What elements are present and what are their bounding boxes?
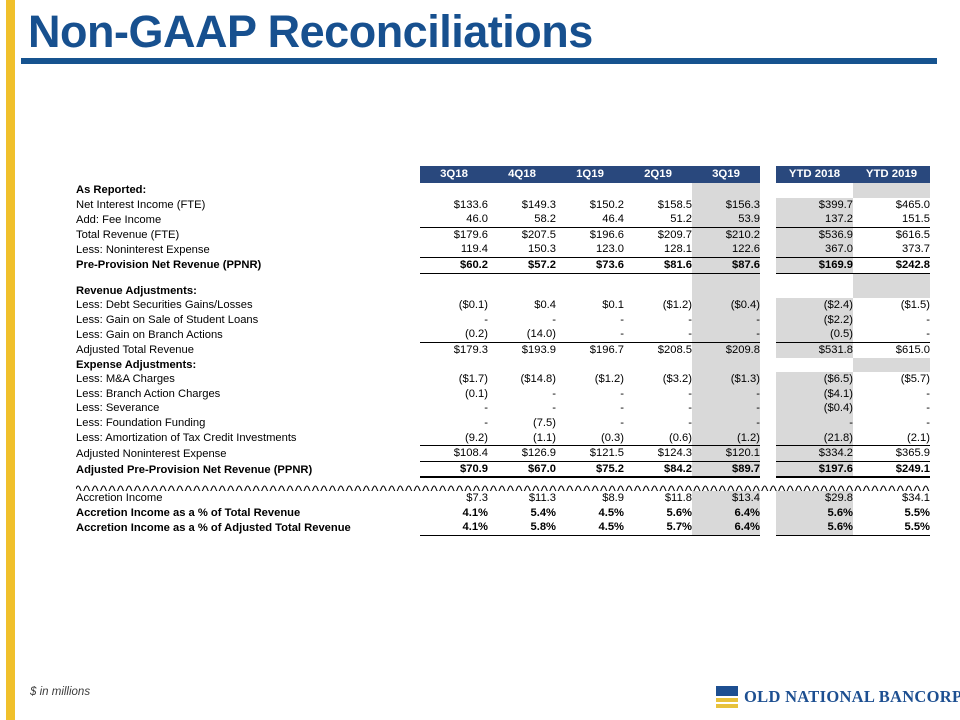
- table-cell: 373.7: [853, 242, 930, 257]
- row-label: Less: Noninterest Expense: [76, 242, 420, 257]
- section-title-filler: [624, 358, 692, 373]
- table-cell: $365.9: [853, 446, 930, 462]
- table-cell: 119.4: [420, 242, 488, 257]
- column-gap-cell: [760, 520, 776, 535]
- table-cell: (1.1): [488, 431, 556, 446]
- row-label: Less: M&A Charges: [76, 372, 420, 387]
- table-cell: ($0.4): [692, 298, 760, 313]
- table-cell: (0.3): [556, 431, 624, 446]
- column-gap-cell: [760, 387, 776, 402]
- table-cell: -: [624, 313, 692, 328]
- section-title-filler: [556, 284, 624, 299]
- table-cell: $70.9: [420, 461, 488, 477]
- company-logo-block: OLD NATIONAL BANCORP’ 52: [716, 684, 960, 710]
- table-cell: $126.9: [488, 446, 556, 462]
- table-cell: $169.9: [776, 257, 853, 273]
- section-title-filler: [853, 183, 930, 198]
- table-cell: $210.2: [692, 227, 760, 242]
- table-row: Less: Foundation Funding-(7.5)-----: [76, 416, 930, 431]
- table-cell: -: [556, 387, 624, 402]
- table-cell: (0.5): [776, 327, 853, 342]
- column-gap-cell: [760, 358, 776, 373]
- units-footnote: $ in millions: [30, 686, 90, 698]
- table-cell: -: [420, 401, 488, 416]
- header-label-blank: [76, 166, 420, 183]
- table-cell: -: [853, 401, 930, 416]
- section-title: Revenue Adjustments:: [76, 284, 420, 299]
- section-title-filler: [776, 284, 853, 299]
- column-gap-cell: [760, 242, 776, 257]
- section-title-filler: [776, 358, 853, 373]
- column-gap-cell: [760, 212, 776, 227]
- table-cell: 5.6%: [624, 506, 692, 521]
- row-label: Accretion Income as a % of Adjusted Tota…: [76, 520, 420, 535]
- table-cell: 51.2: [624, 212, 692, 227]
- table-cell: $465.0: [853, 198, 930, 213]
- row-label: Adjusted Pre-Provision Net Revenue (PPNR…: [76, 461, 420, 477]
- row-label: Net Interest Income (FTE): [76, 198, 420, 213]
- table-cell: ($14.8): [488, 372, 556, 387]
- table-cell: -: [624, 416, 692, 431]
- table-cell: $197.6: [776, 461, 853, 477]
- table-cell: $81.6: [624, 257, 692, 273]
- table-cell: $34.1: [853, 491, 930, 506]
- table-cell: -: [420, 416, 488, 431]
- section-title-row: Revenue Adjustments:: [76, 284, 930, 299]
- table-cell: $150.2: [556, 198, 624, 213]
- table-cell: -: [692, 401, 760, 416]
- title-underline-rule: [21, 58, 937, 64]
- column-gap-cell: [760, 416, 776, 431]
- column-gap-cell: [760, 273, 776, 284]
- section-title-filler: [420, 284, 488, 299]
- section-title-filler: [624, 183, 692, 198]
- table-cell: -: [488, 387, 556, 402]
- spacer: [76, 273, 420, 284]
- table-cell: -: [556, 401, 624, 416]
- table-cell: -: [853, 313, 930, 328]
- table-cell: (1.2): [692, 431, 760, 446]
- table-cell: -: [776, 416, 853, 431]
- table-cell: ($4.1): [776, 387, 853, 402]
- table-cell: (21.8): [776, 431, 853, 446]
- section-title-filler: [420, 358, 488, 373]
- table-cell: ($1.2): [556, 372, 624, 387]
- table-cell: 150.3: [488, 242, 556, 257]
- column-gap-cell: [760, 183, 776, 198]
- reconciliation-table-container: 3Q18 4Q18 1Q19 2Q19 3Q19 YTD 2018 YTD 20…: [76, 166, 882, 536]
- column-header-ytd-2018: YTD 2018: [776, 166, 853, 183]
- spacer: [420, 273, 488, 284]
- row-label: Adjusted Total Revenue: [76, 342, 420, 357]
- table-cell: 5.6%: [776, 520, 853, 535]
- table-cell: 4.5%: [556, 506, 624, 521]
- table-cell: $121.5: [556, 446, 624, 462]
- table-row: Less: Gain on Sale of Student Loans-----…: [76, 313, 930, 328]
- table-cell: ($0.4): [776, 401, 853, 416]
- column-gap-cell: [760, 506, 776, 521]
- table-cell: $193.9: [488, 342, 556, 357]
- section-title-filler: [776, 183, 853, 198]
- table-row: Less: Noninterest Expense119.4150.3123.0…: [76, 242, 930, 257]
- table-cell: 137.2: [776, 212, 853, 227]
- table-cell: $242.8: [853, 257, 930, 273]
- table-cell: (9.2): [420, 431, 488, 446]
- table-cell: $334.2: [776, 446, 853, 462]
- table-cell: -: [488, 313, 556, 328]
- column-gap-cell: [760, 257, 776, 273]
- wavy-divider-row: [76, 477, 930, 491]
- section-title-filler: [692, 183, 760, 198]
- table-cell: $7.3: [420, 491, 488, 506]
- row-label: Accretion Income: [76, 491, 420, 506]
- left-gold-accent-bar: [6, 0, 15, 720]
- table-row: Net Interest Income (FTE)$133.6$149.3$15…: [76, 198, 930, 213]
- section-title-filler: [624, 284, 692, 299]
- table-cell: 58.2: [488, 212, 556, 227]
- table-cell: -: [624, 387, 692, 402]
- column-header-3q18: 3Q18: [420, 166, 488, 183]
- table-cell: (0.2): [420, 327, 488, 342]
- table-cell: 4.1%: [420, 520, 488, 535]
- table-cell: 5.4%: [488, 506, 556, 521]
- row-label: Less: Gain on Branch Actions: [76, 327, 420, 342]
- table-cell: ($2.4): [776, 298, 853, 313]
- table-cell: (14.0): [488, 327, 556, 342]
- table-cell: -: [420, 313, 488, 328]
- table-cell: $11.8: [624, 491, 692, 506]
- table-cell: $158.5: [624, 198, 692, 213]
- section-title-filler: [853, 284, 930, 299]
- section-title-row: Expense Adjustments:: [76, 358, 930, 373]
- table-cell: -: [556, 416, 624, 431]
- table-cell: 151.5: [853, 212, 930, 227]
- column-gap-cell: [760, 327, 776, 342]
- section-title-filler: [488, 183, 556, 198]
- table-row: Adjusted Noninterest Expense$108.4$126.9…: [76, 446, 930, 462]
- table-cell: $0.1: [556, 298, 624, 313]
- non-gaap-reconciliation-table: 3Q18 4Q18 1Q19 2Q19 3Q19 YTD 2018 YTD 20…: [76, 166, 930, 536]
- column-gap-cell: [760, 491, 776, 506]
- table-row: Less: Severance-----($0.4)-: [76, 401, 930, 416]
- section-title-filler: [556, 358, 624, 373]
- table-cell: $11.3: [488, 491, 556, 506]
- row-label: Adjusted Noninterest Expense: [76, 446, 420, 462]
- spacer: [488, 273, 556, 284]
- table-cell: $208.5: [624, 342, 692, 357]
- table-cell: -: [853, 327, 930, 342]
- section-title: As Reported:: [76, 183, 420, 198]
- table-cell: -: [692, 313, 760, 328]
- table-cell: -: [624, 327, 692, 342]
- table-cell: $29.8: [776, 491, 853, 506]
- spacer: [853, 273, 930, 284]
- table-cell: 367.0: [776, 242, 853, 257]
- table-cell: 46.4: [556, 212, 624, 227]
- table-cell: -: [853, 387, 930, 402]
- table-cell: $73.6: [556, 257, 624, 273]
- table-cell: $84.2: [624, 461, 692, 477]
- table-cell: 5.6%: [776, 506, 853, 521]
- table-row: Adjusted Total Revenue$179.3$193.9$196.7…: [76, 342, 930, 357]
- column-gap-cell: [760, 446, 776, 462]
- table-cell: (0.1): [420, 387, 488, 402]
- table-row: Add: Fee Income46.058.246.451.253.9137.2…: [76, 212, 930, 227]
- table-row: Accretion Income$7.3$11.3$8.9$11.8$13.4$…: [76, 491, 930, 506]
- table-cell: 4.1%: [420, 506, 488, 521]
- table-cell: ($3.2): [624, 372, 692, 387]
- table-cell: $249.1: [853, 461, 930, 477]
- section-title-filler: [556, 183, 624, 198]
- table-cell: $399.7: [776, 198, 853, 213]
- wavy-divider: [76, 477, 930, 491]
- table-row: Less: Gain on Branch Actions(0.2)(14.0)-…: [76, 327, 930, 342]
- page-title: Non-GAAP Reconciliations: [28, 6, 593, 58]
- table-cell: $531.8: [776, 342, 853, 357]
- section-title: Expense Adjustments:: [76, 358, 420, 373]
- column-gap-cell: [760, 461, 776, 477]
- table-cell: $209.7: [624, 227, 692, 242]
- column-gap-cell: [760, 284, 776, 299]
- section-title-filler: [488, 284, 556, 299]
- table-row: Less: M&A Charges($1.7)($14.8)($1.2)($3.…: [76, 372, 930, 387]
- old-national-logo-icon: [716, 686, 738, 708]
- table-cell: -: [556, 313, 624, 328]
- table-cell: 46.0: [420, 212, 488, 227]
- table-cell: -: [692, 327, 760, 342]
- table-cell: ($2.2): [776, 313, 853, 328]
- table-cell: ($5.7): [853, 372, 930, 387]
- table-cell: ($1.3): [692, 372, 760, 387]
- row-label: Pre-Provision Net Revenue (PPNR): [76, 257, 420, 273]
- section-title-filler: [692, 358, 760, 373]
- column-header-ytd-2019: YTD 2019: [853, 166, 930, 183]
- table-cell: -: [556, 327, 624, 342]
- table-cell: 5.8%: [488, 520, 556, 535]
- column-gap-cell: [760, 313, 776, 328]
- row-label: Less: Branch Action Charges: [76, 387, 420, 402]
- table-cell: $209.8: [692, 342, 760, 357]
- table-row: Less: Branch Action Charges(0.1)----($4.…: [76, 387, 930, 402]
- row-label: Less: Amortization of Tax Credit Investm…: [76, 431, 420, 446]
- table-cell: $179.6: [420, 227, 488, 242]
- column-gap-cell: [760, 372, 776, 387]
- table-cell: -: [624, 401, 692, 416]
- table-cell: 4.5%: [556, 520, 624, 535]
- table-cell: 122.6: [692, 242, 760, 257]
- table-cell: 123.0: [556, 242, 624, 257]
- table-cell: -: [692, 416, 760, 431]
- table-cell: (2.1): [853, 431, 930, 446]
- section-title-filler: [488, 358, 556, 373]
- table-cell: $0.4: [488, 298, 556, 313]
- column-gap-cell: [760, 298, 776, 313]
- table-cell: -: [853, 416, 930, 431]
- spacer-row: [76, 273, 930, 284]
- table-cell: $87.6: [692, 257, 760, 273]
- column-header-1q19: 1Q19: [556, 166, 624, 183]
- table-cell: $89.7: [692, 461, 760, 477]
- row-label: Less: Severance: [76, 401, 420, 416]
- table-cell: $196.7: [556, 342, 624, 357]
- header-gap: [760, 166, 776, 183]
- table-cell: $75.2: [556, 461, 624, 477]
- table-row: Accretion Income as a % of Total Revenue…: [76, 506, 930, 521]
- table-cell: $536.9: [776, 227, 853, 242]
- table-cell: 5.5%: [853, 506, 930, 521]
- section-title-filler: [692, 284, 760, 299]
- table-cell: $8.9: [556, 491, 624, 506]
- section-title-filler: [420, 183, 488, 198]
- row-label: Total Revenue (FTE): [76, 227, 420, 242]
- table-cell: 6.4%: [692, 506, 760, 521]
- section-title-filler: [853, 358, 930, 373]
- table-row: Accretion Income as a % of Adjusted Tota…: [76, 520, 930, 535]
- table-cell: $60.2: [420, 257, 488, 273]
- table-cell: $57.2: [488, 257, 556, 273]
- section-title-row: As Reported:: [76, 183, 930, 198]
- column-header-2q19: 2Q19: [624, 166, 692, 183]
- table-cell: ($1.2): [624, 298, 692, 313]
- table-cell: ($1.7): [420, 372, 488, 387]
- table-cell: ($0.1): [420, 298, 488, 313]
- table-cell: $179.3: [420, 342, 488, 357]
- column-header-4q18: 4Q18: [488, 166, 556, 183]
- table-cell: $13.4: [692, 491, 760, 506]
- table-row: Less: Debt Securities Gains/Losses($0.1)…: [76, 298, 930, 313]
- table-cell: -: [692, 387, 760, 402]
- table-cell: -: [488, 401, 556, 416]
- column-gap-cell: [760, 227, 776, 242]
- column-gap-cell: [760, 198, 776, 213]
- table-cell: (0.6): [624, 431, 692, 446]
- table-cell: $149.3: [488, 198, 556, 213]
- table-cell: ($6.5): [776, 372, 853, 387]
- row-label: Add: Fee Income: [76, 212, 420, 227]
- table-cell: $207.5: [488, 227, 556, 242]
- column-gap-cell: [760, 431, 776, 446]
- column-gap-cell: [760, 342, 776, 357]
- table-cell: 5.7%: [624, 520, 692, 535]
- table-cell: $67.0: [488, 461, 556, 477]
- column-header-3q19: 3Q19: [692, 166, 760, 183]
- table-cell: 128.1: [624, 242, 692, 257]
- table-cell: 5.5%: [853, 520, 930, 535]
- spacer: [776, 273, 853, 284]
- spacer: [692, 273, 760, 284]
- table-cell: $124.3: [624, 446, 692, 462]
- table-row: Less: Amortization of Tax Credit Investm…: [76, 431, 930, 446]
- row-label: Less: Gain on Sale of Student Loans: [76, 313, 420, 328]
- table-row: Pre-Provision Net Revenue (PPNR)$60.2$57…: [76, 257, 930, 273]
- row-label: Less: Foundation Funding: [76, 416, 420, 431]
- table-cell: $196.6: [556, 227, 624, 242]
- table-cell: (7.5): [488, 416, 556, 431]
- table-cell: $108.4: [420, 446, 488, 462]
- table-cell: $120.1: [692, 446, 760, 462]
- table-cell: 6.4%: [692, 520, 760, 535]
- table-cell: $133.6: [420, 198, 488, 213]
- logo-wordmark: OLD NATIONAL BANCORP’: [744, 687, 960, 707]
- table-row: Adjusted Pre-Provision Net Revenue (PPNR…: [76, 461, 930, 477]
- table-header-row: 3Q18 4Q18 1Q19 2Q19 3Q19 YTD 2018 YTD 20…: [76, 166, 930, 183]
- spacer: [624, 273, 692, 284]
- table-cell: $156.3: [692, 198, 760, 213]
- table-cell: ($1.5): [853, 298, 930, 313]
- table-body: As Reported: Net Interest Income (FTE)$1…: [76, 183, 930, 536]
- table-cell: 53.9: [692, 212, 760, 227]
- table-cell: $615.0: [853, 342, 930, 357]
- table-cell: $616.5: [853, 227, 930, 242]
- row-label: Less: Debt Securities Gains/Losses: [76, 298, 420, 313]
- row-label: Accretion Income as a % of Total Revenue: [76, 506, 420, 521]
- table-row: Total Revenue (FTE)$179.6$207.5$196.6$20…: [76, 227, 930, 242]
- column-gap-cell: [760, 401, 776, 416]
- spacer: [556, 273, 624, 284]
